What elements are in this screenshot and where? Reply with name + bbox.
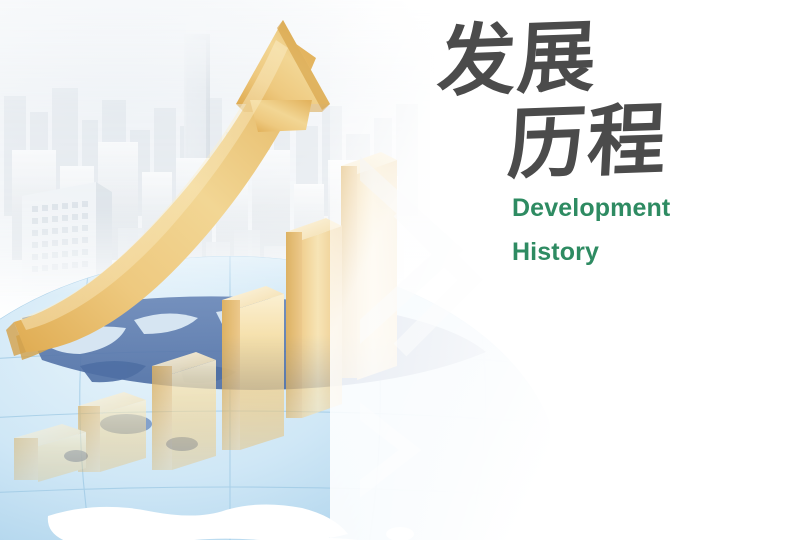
chinese-title-line-2: 历程 — [506, 97, 783, 184]
development-history-banner: 发展 历程 Development History — [0, 0, 800, 540]
title-block: 发展 历程 Development History — [430, 18, 780, 268]
english-title-line-1: Development — [512, 192, 780, 224]
chinese-title-line-1: 发展 — [436, 12, 783, 102]
english-title-line-2: History — [512, 236, 780, 268]
